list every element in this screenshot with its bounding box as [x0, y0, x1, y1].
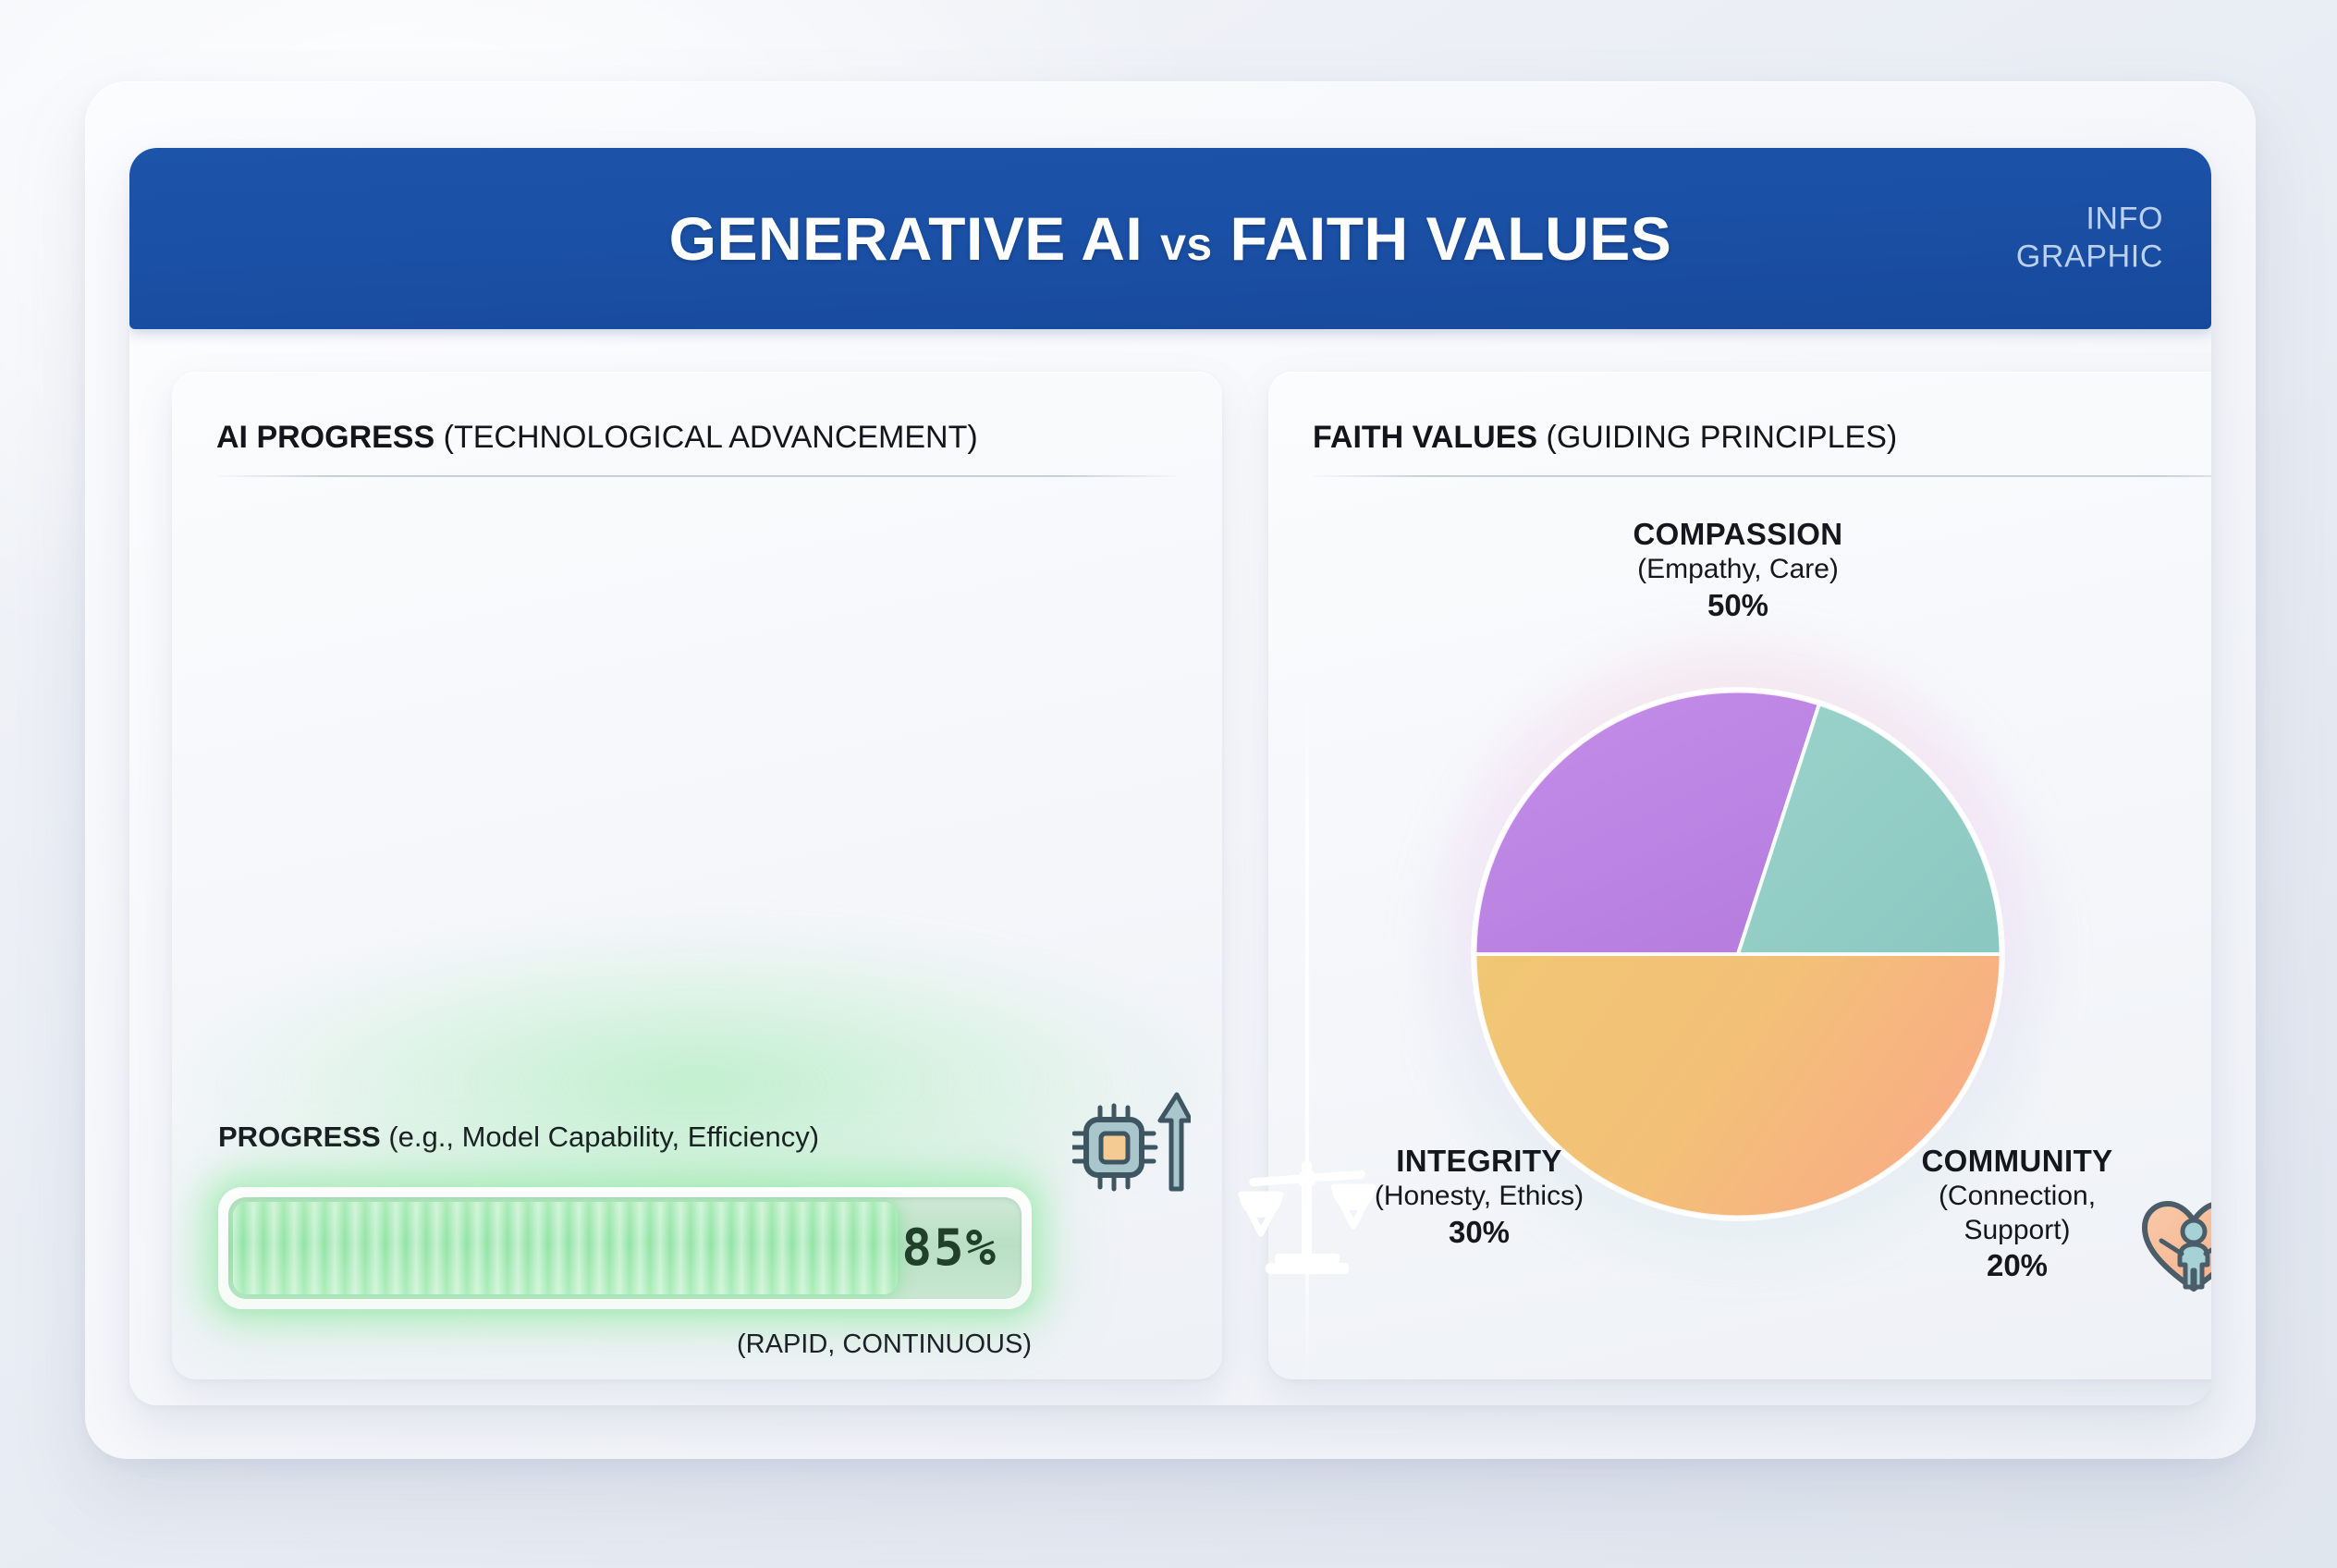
ai-progress-title-rest: (TECHNOLOGICAL ADVANCEMENT)	[444, 420, 978, 455]
title-tail: FAITH VALUES	[1230, 204, 1672, 273]
pie-label-compassion-value: 50%	[1405, 587, 2071, 624]
progress-percent-value: 85%	[901, 1223, 997, 1273]
ai-progress-title-bold: AI PROGRESS	[216, 420, 434, 455]
progress-label-bold: PROGRESS	[218, 1121, 381, 1153]
title-main: GENERATIVE AI	[669, 204, 1144, 273]
ai-progress-panel: AI PROGRESS (TECHNOLOGICAL ADVANCEMENT) …	[172, 372, 1222, 1379]
progress-bar-fill	[233, 1202, 898, 1294]
rapid-continuous-note: (RAPID, CONTINUOUS)	[737, 1329, 1032, 1360]
info-graphic-badge: INFO GRAPHIC	[2016, 201, 2163, 277]
badge-line-1: INFO	[2016, 201, 2163, 239]
panel-divider-rule	[216, 475, 1178, 477]
pie-label-community-name: COMMUNITY	[1823, 1143, 2211, 1180]
panels-container: AI PROGRESS (TECHNOLOGICAL ADVANCEMENT) …	[129, 329, 2211, 1405]
progress-label: PROGRESS (e.g., Model Capability, Effici…	[218, 1121, 819, 1154]
faith-values-pie-chart	[1470, 686, 2006, 1222]
heart-with-person-icon	[2139, 1196, 2211, 1300]
panel-divider-rule	[1313, 475, 2211, 477]
faith-values-panel: FAITH VALUES (GUIDING PRINCIPLES)	[1268, 372, 2211, 1379]
faith-values-title-rest: (GUIDING PRINCIPLES)	[1547, 420, 1898, 455]
accelerating-computation-note: ACCELERATING COMPUTATION & PATTERN MATCH…	[218, 1376, 945, 1379]
pie-label-compassion-name: COMPASSION	[1405, 516, 2071, 553]
header-bar: GENERATIVE AI vs FAITH VALUES INFO GRAPH…	[129, 148, 2211, 329]
progress-label-rest: (e.g., Model Capability, Efficiency)	[388, 1121, 819, 1153]
progress-bar-track: 85%	[228, 1197, 1022, 1299]
progress-bar[interactable]: 85%	[218, 1187, 1032, 1309]
badge-line-2: GRAPHIC	[2016, 239, 2163, 276]
cpu-chip-rising-arrow-icon	[1072, 1085, 1191, 1194]
balance-scales-icon	[1232, 1148, 1382, 1287]
faith-values-title-bold: FAITH VALUES	[1313, 420, 1537, 455]
faith-values-panel-title: FAITH VALUES (GUIDING PRINCIPLES)	[1313, 420, 1897, 456]
infographic-card: GENERATIVE AI vs FAITH VALUES INFO GRAPH…	[129, 148, 2211, 1405]
page-title: GENERATIVE AI vs FAITH VALUES	[669, 203, 1672, 274]
pie-label-compassion: COMPASSION (Empathy, Care) 50%	[1405, 516, 2071, 624]
ai-progress-panel-title: AI PROGRESS (TECHNOLOGICAL ADVANCEMENT)	[216, 420, 978, 456]
pie-label-compassion-sub: (Empathy, Care)	[1405, 553, 2071, 587]
title-vs: vs	[1160, 218, 1213, 270]
